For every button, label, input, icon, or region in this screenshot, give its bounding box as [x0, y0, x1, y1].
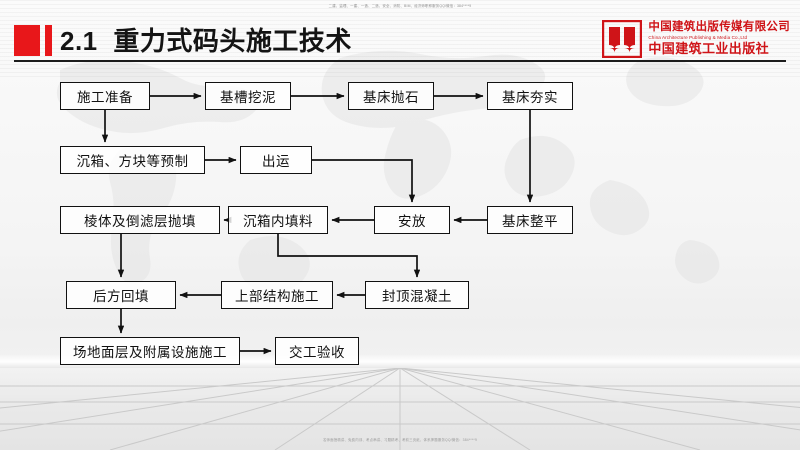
flowchart-node: 出运 [240, 146, 312, 174]
flowchart-node: 基床夯实 [487, 82, 573, 110]
flowchart-node: 棱体及倒滤层抛填 [60, 206, 220, 234]
construction-process-flowchart: 施工准备基槽挖泥基床抛石基床夯实沉箱、方块等预制出运棱体及倒滤层抛填沉箱内填料安… [0, 66, 800, 386]
flowchart-node: 沉箱内填料 [228, 206, 328, 234]
flowchart-node: 后方回填 [66, 281, 176, 309]
flowchart-node: 安放 [374, 206, 450, 234]
title-accent-block [14, 25, 40, 56]
book-logo-icon [602, 20, 642, 58]
flowchart-node: 基床整平 [487, 206, 573, 234]
logo-company-cn: 中国建筑出版传媒有限公司 [648, 22, 790, 34]
flowchart-node: 施工准备 [60, 82, 150, 110]
slide-canvas: 二建、监理、一建、一造、二造、安全、消防、BIM、经济师职称服务QQ/微信：38… [0, 0, 800, 450]
top-watermark-text: 二建、监理、一建、一造、二造、安全、消防、BIM、经济师职称服务QQ/微信：38… [0, 3, 800, 8]
flowchart-node: 沉箱、方块等预制 [60, 146, 205, 174]
publisher-logo: 中国建筑出版传媒有限公司 China Architecture Publishi… [602, 20, 790, 58]
flowchart-node: 基槽挖泥 [205, 82, 291, 110]
title-divider [14, 60, 786, 62]
logo-press-cn: 中国建筑工业出版社 [648, 43, 790, 56]
flowchart-node: 基床抛石 [348, 82, 434, 110]
title-number: 2.1 [60, 26, 98, 56]
flowchart-node: 上部结构施工 [221, 281, 333, 309]
title-accent-bar [45, 25, 52, 56]
bottom-watermark-text: 名师面授精讲、免费内训、考点串讲、习题精考、考前三页纸、体系押题服务QQ/微信：… [0, 437, 800, 442]
title-label: 重力式码头施工技术 [113, 26, 352, 56]
flowchart-node: 封顶混凝土 [365, 281, 469, 309]
logo-company-en: China Architecture Publishing & Media Co… [648, 36, 790, 41]
flowchart-node: 场地面层及附属设施施工 [60, 337, 240, 365]
flowchart-node: 交工验收 [275, 337, 359, 365]
page-title: 2.1 重力式码头施工技术 [60, 22, 352, 60]
